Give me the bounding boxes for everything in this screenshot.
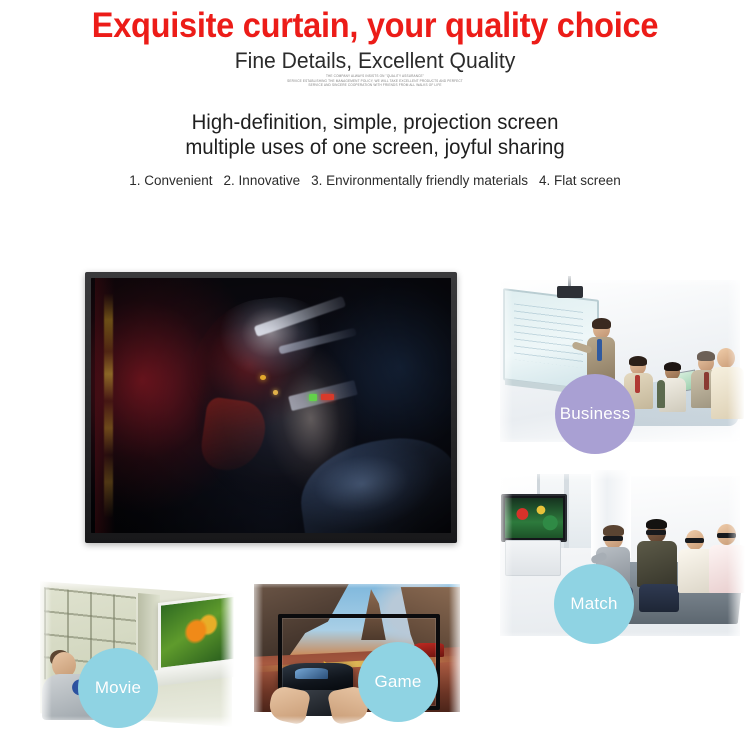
match-television	[501, 494, 567, 542]
scenario-badge-match[interactable]: Match	[554, 564, 634, 644]
game-controller-hands	[270, 684, 366, 728]
fineprint-block: THE COMPANY ALWAYS INSISTS ON "QUALITY A…	[8, 74, 743, 88]
projector-icon	[557, 286, 583, 298]
page-title: Exquisite curtain, your quality choice	[26, 6, 724, 46]
scenario-badge-business[interactable]: Business	[555, 374, 635, 454]
feature-item-1: 1. Convenient	[129, 173, 212, 188]
feature-item-3: 3. Environmentally friendly materials	[311, 173, 528, 188]
description-line-2: multiple uses of one screen, joyful shar…	[11, 135, 739, 160]
scenario-badge-movie-label: Movie	[95, 678, 141, 698]
feature-item-2: 2. Innovative	[224, 173, 301, 188]
scenario-badge-movie[interactable]: Movie	[78, 648, 158, 728]
scenario-badge-business-label: Business	[560, 404, 631, 424]
game-hand-left	[267, 684, 311, 725]
movie-projection-screen	[158, 593, 234, 671]
match-person-4	[709, 524, 745, 616]
game-photo	[248, 576, 464, 728]
feature-item-4: 4. Flat screen	[539, 173, 621, 188]
scenario-badge-match-label: Match	[570, 594, 617, 614]
match-tv-stand	[505, 540, 561, 576]
match-tv-screen	[505, 498, 563, 538]
match-person-2	[637, 522, 681, 614]
page-subtitle: Fine Details, Excellent Quality	[15, 48, 735, 74]
fineprint-line-3: SERVICE AND SINCERE COOPERATION WITH FRI…	[8, 83, 743, 88]
main-screen-display	[85, 272, 457, 543]
feature-list: 1. Convenient2. Innovative3. Environment…	[0, 172, 750, 190]
scene-vignette	[91, 278, 451, 533]
description-line-1: High-definition, simple, projection scre…	[11, 110, 739, 135]
business-person-seated-4	[711, 348, 745, 426]
description-block: High-definition, simple, projection scre…	[11, 110, 739, 160]
business-person-seated-2	[658, 364, 688, 418]
product-promo-page: Exquisite curtain, your quality choice F…	[0, 0, 750, 750]
main-screen-content	[91, 278, 451, 533]
scenario-badge-game[interactable]: Game	[358, 642, 438, 722]
scenario-panel-game	[248, 576, 464, 728]
scenario-badge-game-label: Game	[374, 672, 421, 692]
